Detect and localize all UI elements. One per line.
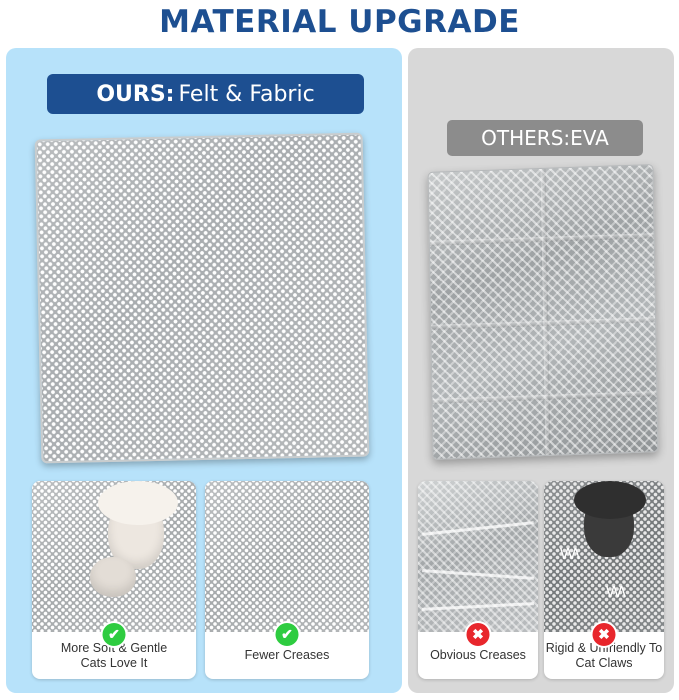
flat-mat-no-creases-image (205, 481, 369, 632)
crease-line (422, 602, 534, 611)
check-icon: ✔ (101, 621, 128, 648)
cat-leg-fur (98, 481, 178, 525)
others-thumb-2-caption-line2: Cat Claws (576, 656, 633, 671)
eva-mat-with-creases-image (418, 481, 538, 632)
scratch-mark-icon: \/\/\ (560, 547, 579, 562)
others-thumb-2: \/\/\ \/\/\ ✖ Rigid & Unfriendly To Cat … (544, 481, 664, 679)
crease-line-vertical (541, 169, 551, 455)
paw-print-impression (90, 557, 136, 597)
scratch-mark-icon: \/\/\ (606, 585, 625, 600)
others-thumb-1-caption-line1: Obvious Creases (430, 648, 526, 663)
page-title: MATERIAL UPGRADE (0, 0, 679, 44)
others-thumb-1: ✖ Obvious Creases (418, 481, 538, 679)
ours-main-mat-image (35, 133, 370, 464)
ours-thumb-1: ✔ More Soft & Gentle Cats Love It (32, 481, 196, 679)
label-others: OTHERS:EVA (447, 120, 643, 156)
others-main-mat-image (428, 164, 659, 460)
ours-thumb-2: ✔ Fewer Creases (205, 481, 369, 679)
cat-paw-on-soft-mat-image (32, 481, 196, 632)
label-ours-strong: OURS: (96, 82, 174, 107)
label-ours: OURS: Felt & Fabric (47, 74, 364, 114)
label-ours-rest: Felt & Fabric (178, 82, 314, 107)
crease-line (422, 569, 534, 580)
cat-paw-scratching-rigid-mat-image: \/\/\ \/\/\ (544, 481, 664, 632)
crease-line (422, 521, 534, 536)
cross-icon: ✖ (591, 621, 618, 648)
check-icon: ✔ (274, 621, 301, 648)
ours-thumb-2-caption-line1: Fewer Creases (245, 648, 330, 663)
cross-icon: ✖ (465, 621, 492, 648)
ours-thumb-1-caption-line2: Cats Love It (81, 656, 148, 671)
cat-leg-fur (574, 481, 646, 519)
